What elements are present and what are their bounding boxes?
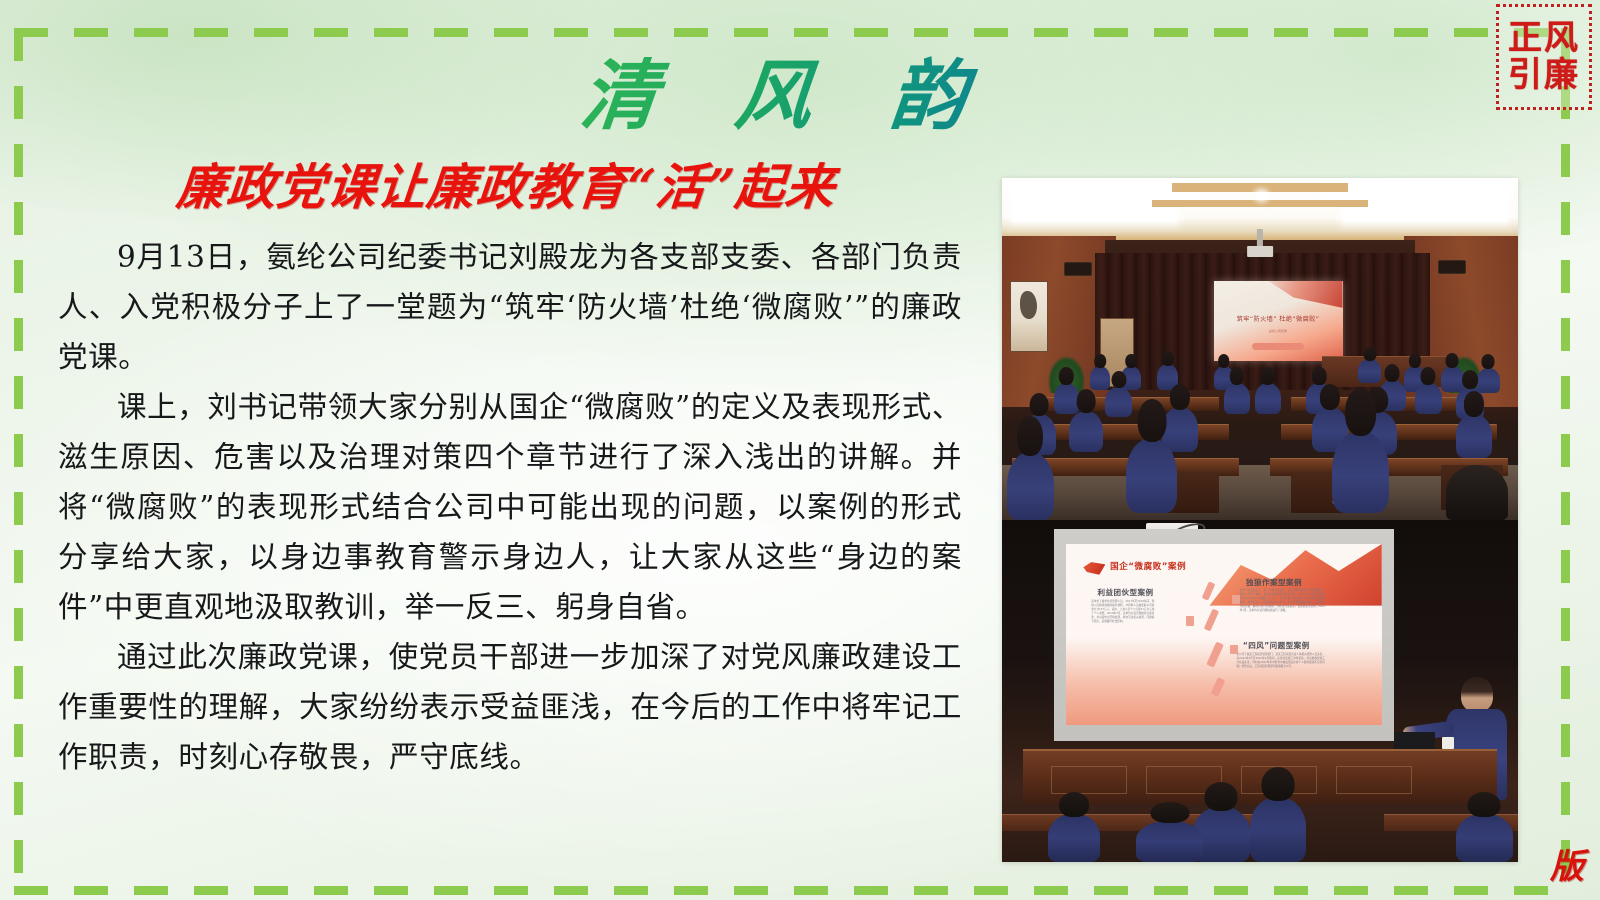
- case-slide: 国企“微腐败”案例 利益团伙型案例 独狼作案型案例 “四风”问题型案例 某单位下…: [1066, 544, 1382, 725]
- head: [1464, 391, 1484, 417]
- head: [1320, 384, 1340, 410]
- seal-row-top: 正风: [1508, 20, 1580, 57]
- head: [1468, 792, 1501, 817]
- slide-decor-slash: [1206, 641, 1223, 667]
- article-headline: 廉政党课让廉政教育“活”起来: [56, 148, 956, 219]
- attendee: [1090, 366, 1111, 390]
- case-b-title: 独狼作案型案例: [1246, 577, 1302, 588]
- slide-title-text: 筑牢“防火墙” 杜绝“微腐败”: [1221, 314, 1335, 323]
- attendee: [1255, 383, 1281, 414]
- slide-header-text: 国企“微腐败”案例: [1110, 560, 1186, 572]
- photo-presenter: 国企“微腐败”案例 利益团伙型案例 独狼作案型案例 “四风”问题型案例 某单位下…: [1002, 520, 1518, 862]
- red-flag-icon: [1083, 562, 1105, 575]
- head: [1094, 354, 1106, 368]
- article-paragraph-3: 通过此次廉政党课，使党员干部进一步加深了对党风廉政建设工作重要性的理解，大家纷纷…: [58, 632, 962, 782]
- frame-border-left: [14, 28, 23, 895]
- dais-panel: [1051, 766, 1127, 794]
- case-b-body: 某部门某班组员工，某，利用同班值班、夜班巡检等管理产生漏洞便利，盗取公司生产物资…: [1240, 589, 1325, 613]
- audience-member: [1456, 814, 1513, 862]
- frame-border-right: [1561, 28, 1570, 895]
- seal-row-bottom: 引廉: [1508, 57, 1580, 94]
- speaker-right: [1438, 260, 1466, 274]
- lecture-hall-scene: 筑牢“防火墙” 杜绝“微腐败” 氨纶公司纪委: [1002, 178, 1518, 520]
- audience-member: [1136, 821, 1203, 862]
- frame-border-bottom: [14, 886, 1570, 895]
- attendee: [1456, 414, 1492, 458]
- ceiling-projector: [1247, 246, 1273, 256]
- head: [1345, 388, 1377, 436]
- poster-page: 正风 引廉 清 风 韵 廉政党课让廉政教育“活”起来 9月13日，氨纶公司纪委书…: [0, 0, 1600, 900]
- attendee: [1069, 411, 1103, 452]
- slide-pill: [1252, 343, 1304, 350]
- ceiling-bar: [1172, 183, 1347, 192]
- attendee: [1415, 383, 1442, 414]
- podium-cup: [1442, 737, 1453, 749]
- ceiling-light: [1257, 192, 1265, 199]
- masthead-title: 清 风 韵: [576, 34, 1024, 144]
- presenter-head: [1461, 677, 1493, 711]
- head: [1218, 354, 1230, 368]
- attendee: [1105, 387, 1132, 418]
- head: [1385, 364, 1400, 382]
- slide-decor-mark: [1230, 645, 1238, 654]
- head: [1462, 370, 1478, 389]
- slide-decor-mark: [1186, 616, 1194, 625]
- case-a-title: 利益团伙型案例: [1098, 587, 1154, 598]
- edition-mark: 版: [1550, 839, 1584, 888]
- head: [1017, 416, 1043, 456]
- large-projection-screen: 国企“微腐败”案例 利益团伙型案例 独狼作案型案例 “四风”问题型案例 某单位下…: [1054, 529, 1395, 741]
- head: [1150, 802, 1189, 823]
- head: [1261, 367, 1275, 385]
- article-paragraph-2: 课上，刘书记带领大家分别从国企“微腐败”的定义及表现形式、滋生原因、危害以及治理…: [58, 382, 962, 632]
- seal-text-line1: 正风: [1508, 20, 1580, 57]
- head: [1125, 354, 1137, 368]
- attendee-head-foreground: [1446, 465, 1508, 520]
- slide-decor-mark: [1232, 595, 1240, 604]
- head: [1421, 367, 1436, 385]
- head: [1059, 367, 1073, 385]
- head: [1076, 389, 1095, 413]
- head: [1170, 384, 1190, 410]
- photo-lecture-hall: 筑牢“防火墙” 杜绝“微腐败” 氨纶公司纪委: [1002, 178, 1518, 520]
- seal-text-line2: 引廉: [1508, 57, 1580, 94]
- attendee-foreground: [1007, 452, 1053, 520]
- lecturer-at-podium: [1358, 359, 1381, 383]
- front-dais: [1023, 749, 1498, 804]
- head: [1409, 353, 1421, 368]
- masthead: 清 风 韵: [0, 34, 1600, 144]
- ceiling-bar: [1152, 200, 1369, 207]
- audience-member: [1048, 814, 1100, 862]
- head: [1446, 353, 1459, 368]
- attendee: [1054, 383, 1080, 414]
- presenter-scene: 国企“微腐败”案例 利益团伙型案例 独狼作案型案例 “四风”问题型案例 某单位下…: [1002, 520, 1518, 862]
- case-c-title: “四风”问题型案例: [1243, 640, 1310, 651]
- head: [1262, 767, 1295, 801]
- head: [1137, 399, 1166, 443]
- projection-screen: 筑牢“防火墙” 杜绝“微腐败” 氨纶公司纪委: [1214, 281, 1343, 361]
- slide-decor-slash: [1202, 581, 1216, 600]
- head: [1030, 393, 1049, 417]
- slide-decor-slash: [1204, 609, 1219, 632]
- audience-member: [1250, 797, 1307, 862]
- head: [1205, 782, 1238, 810]
- head: [1312, 367, 1326, 385]
- head: [1111, 371, 1126, 389]
- headline-text: 廉政党课让廉政教育“活”起来: [174, 148, 839, 219]
- attendee-foreground: [1126, 438, 1178, 513]
- attendee: [1224, 383, 1250, 414]
- head: [1059, 792, 1089, 817]
- slide-decor-slash: [1211, 677, 1225, 697]
- article-body: 9月13日，氨纶公司纪委书记刘殿龙为各支部支委、各部门负责人、入党积极分子上了一…: [58, 232, 962, 782]
- wall-artwork: [1010, 281, 1049, 353]
- case-c-body: 某公司下属某工程项目管理部门，某某工程项目负责人等相关管理人员多名，自2021年…: [1236, 653, 1324, 669]
- speaker-left: [1064, 262, 1092, 276]
- attendee-foreground: [1332, 431, 1389, 513]
- seal-stamp: 正风 引廉: [1496, 4, 1592, 110]
- head: [1230, 367, 1244, 385]
- attendee: [1441, 366, 1464, 392]
- case-a-body: 某单位下属单位某管理人员，2017年至2019年间，利用入库检验验收的职务便利，…: [1091, 600, 1154, 624]
- head: [1162, 351, 1174, 366]
- article-paragraph-1: 9月13日，氨纶公司纪委书记刘殿龙为各支部支委、各部门负责人、入党积极分子上了一…: [58, 232, 962, 382]
- head: [1363, 347, 1376, 361]
- slide-subtitle-text: 氨纶公司纪委: [1226, 329, 1329, 333]
- dais-panel: [1336, 766, 1412, 794]
- attendee: [1477, 368, 1500, 394]
- head: [1482, 354, 1495, 369]
- photo-column: 筑牢“防火墙” 杜绝“微腐败” 氨纶公司纪委: [1002, 178, 1518, 862]
